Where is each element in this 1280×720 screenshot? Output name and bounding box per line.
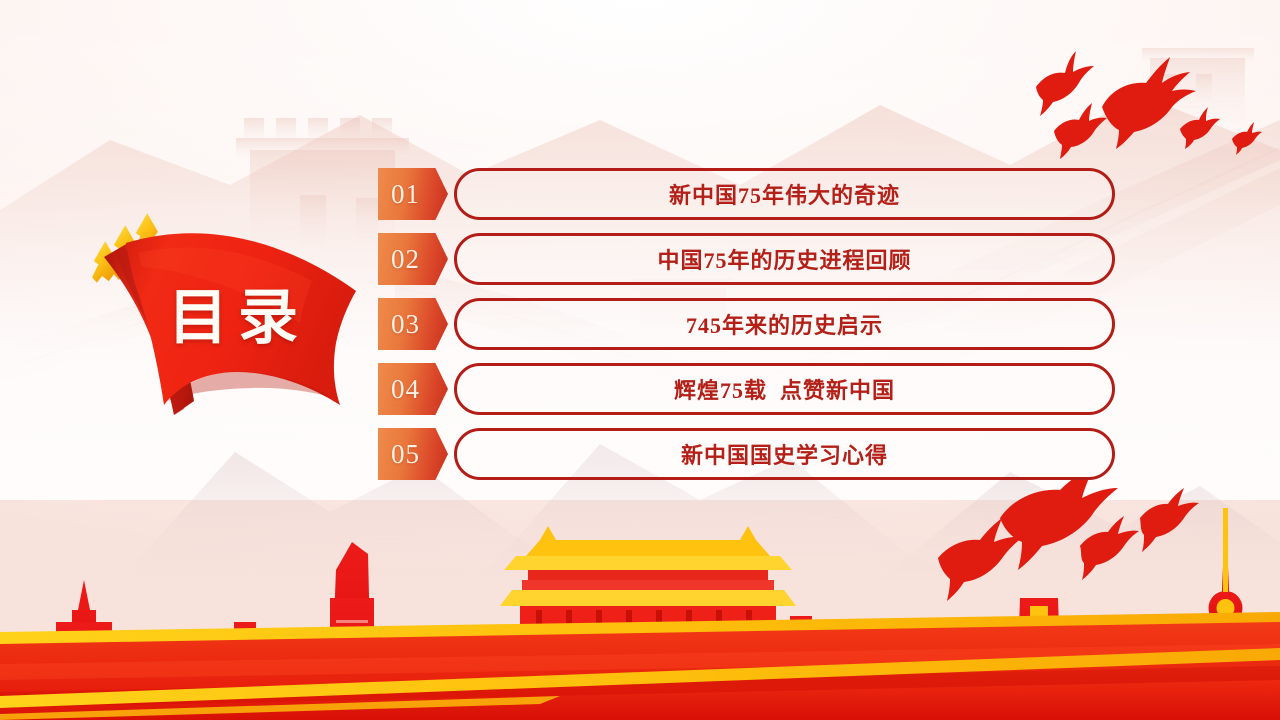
toc-number-03: 03: [378, 309, 420, 340]
dove-flock-top-right: [1010, 35, 1270, 165]
toc-number-badge-02: 02: [378, 233, 448, 285]
toc-pill-05[interactable]: 新中国国史学习心得: [454, 428, 1115, 480]
presentation-slide: 目录 01 新中国75年伟大的奇迹 02 中国75年的历史进程回顾 03 745: [0, 0, 1280, 720]
toc-item-05[interactable]: 05 新中国国史学习心得: [378, 428, 1123, 480]
toc-label-02: 中国75年的历史进程回顾: [657, 243, 911, 275]
toc-label-01: 新中国75年伟大的奇迹: [669, 178, 900, 210]
toc-number-05: 05: [378, 439, 420, 470]
table-of-contents: 01 新中国75年伟大的奇迹 02 中国75年的历史进程回顾 03 745年来的…: [378, 168, 1123, 493]
toc-number-02: 02: [378, 244, 420, 275]
toc-item-04[interactable]: 04 辉煌75载 点赞新中国: [378, 363, 1123, 415]
toc-number-01: 01: [378, 179, 420, 210]
toc-item-01[interactable]: 01 新中国75年伟大的奇迹: [378, 168, 1123, 220]
toc-number-badge-01: 01: [378, 168, 448, 220]
page-title: 目录: [168, 288, 338, 348]
toc-item-03[interactable]: 03 745年来的历史启示: [378, 298, 1123, 350]
toc-number-badge-05: 05: [378, 428, 448, 480]
toc-pill-01[interactable]: 新中国75年伟大的奇迹: [454, 168, 1115, 220]
toc-label-05: 新中国国史学习心得: [681, 438, 888, 470]
toc-number-badge-04: 04: [378, 363, 448, 415]
dove-flock-bottom-right: [930, 480, 1230, 610]
toc-item-02[interactable]: 02 中国75年的历史进程回顾: [378, 233, 1123, 285]
toc-pill-02[interactable]: 中国75年的历史进程回顾: [454, 233, 1115, 285]
toc-pill-03[interactable]: 745年来的历史启示: [454, 298, 1115, 350]
toc-number-04: 04: [378, 374, 420, 405]
toc-pill-04[interactable]: 辉煌75载 点赞新中国: [454, 363, 1115, 415]
gold-red-ribbon-band: [0, 610, 1280, 720]
toc-label-03: 745年来的历史启示: [686, 308, 883, 340]
toc-label-04: 辉煌75载 点赞新中国: [674, 373, 895, 405]
toc-number-badge-03: 03: [378, 298, 448, 350]
